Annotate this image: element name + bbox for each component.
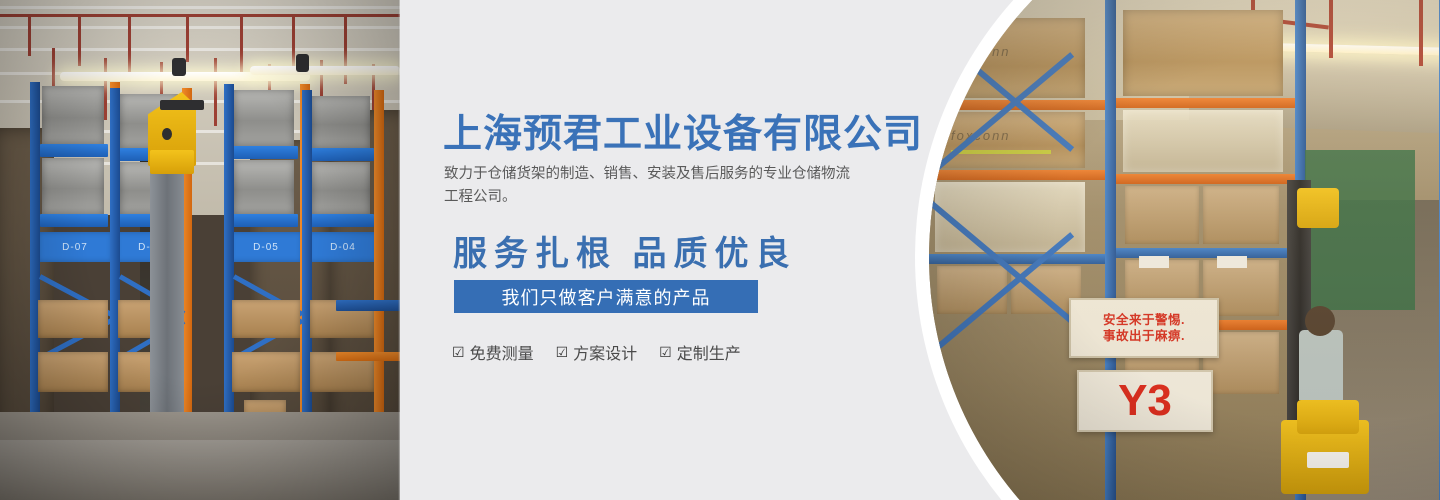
feature-item-custom-production: ☑ 定制生产 bbox=[659, 340, 741, 364]
slogan-text: 服务扎根 品质优良 bbox=[453, 226, 797, 275]
banner-content: 上海预君工业设备有限公司 致力于仓储货架的制造、销售、安装及售后服务的专业仓储物… bbox=[443, 0, 963, 500]
photo-vignette bbox=[929, 0, 1440, 500]
feature-label: 免费测量 bbox=[470, 340, 534, 364]
photo-vignette bbox=[0, 0, 400, 500]
promo-banner: D-07 D-06 D-05 bbox=[0, 0, 1440, 500]
promise-badge: 我们只做客户满意的产品 bbox=[454, 280, 758, 313]
page-subtitle: 致力于仓储货架的制造、销售、安装及售后服务的专业仓储物流工程公司。 bbox=[444, 163, 864, 209]
feature-item-free-measure: ☑ 免费测量 bbox=[452, 340, 534, 364]
right-warehouse-photo: foxconn foxconn bbox=[929, 0, 1440, 500]
right-photo-circle-frame: foxconn foxconn bbox=[915, 0, 1440, 500]
check-box-icon: ☑ bbox=[556, 345, 569, 359]
feature-item-plan-design: ☑ 方案设计 bbox=[556, 340, 638, 364]
right-photo-scene: foxconn foxconn bbox=[929, 0, 1440, 500]
feature-label: 定制生产 bbox=[677, 340, 741, 364]
page-title: 上海预君工业设备有限公司 bbox=[443, 103, 923, 159]
check-box-icon: ☑ bbox=[452, 345, 465, 359]
feature-label: 方案设计 bbox=[573, 340, 637, 364]
feature-list: ☑ 免费测量 ☑ 方案设计 ☑ 定制生产 bbox=[452, 340, 741, 364]
photo-divider bbox=[398, 0, 400, 500]
check-box-icon: ☑ bbox=[659, 345, 672, 359]
left-warehouse-photo: D-07 D-06 D-05 bbox=[0, 0, 400, 500]
